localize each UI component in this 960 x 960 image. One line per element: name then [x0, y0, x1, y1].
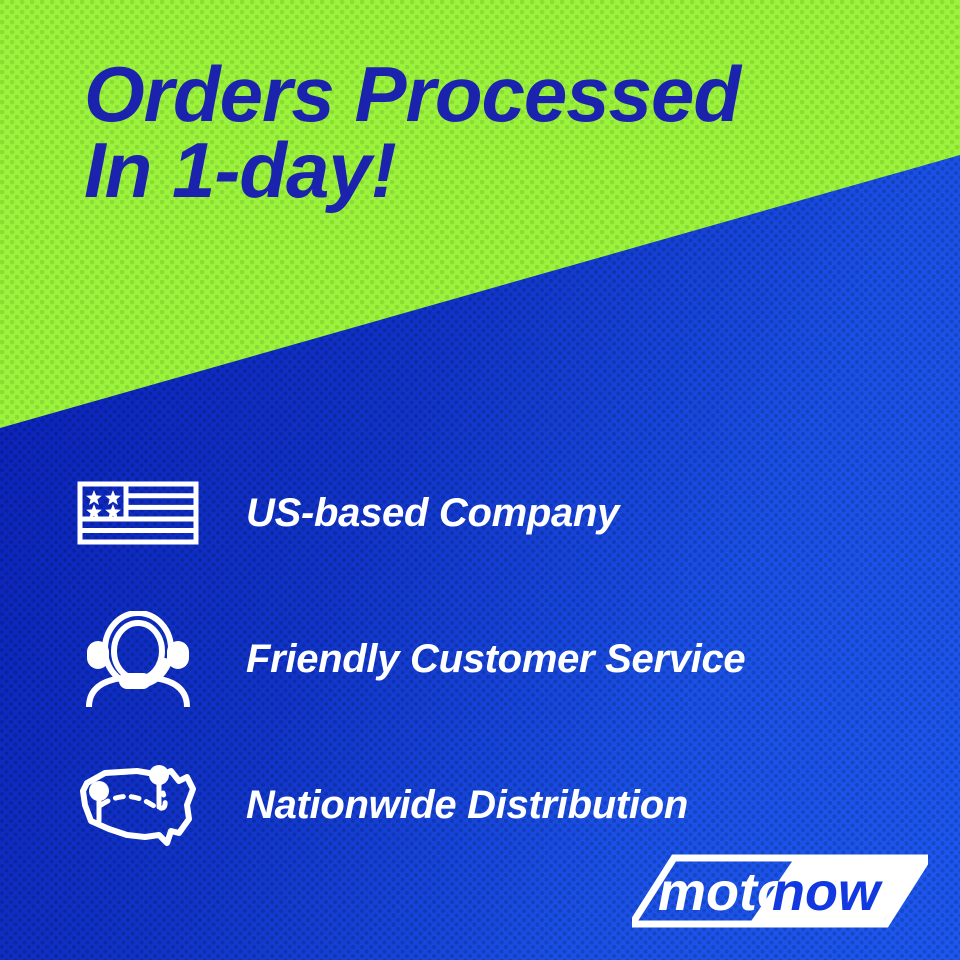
logo-text-now: now: [772, 862, 883, 922]
feature-label: Nationwide Distribution: [246, 783, 688, 828]
headline: Orders Processed In 1-day!: [84, 56, 924, 209]
feature-list: US-based Company: [74, 440, 894, 878]
us-flag-icon: [74, 481, 202, 545]
promo-poster: Orders Processed In 1-day!: [0, 0, 960, 960]
motonow-logo[interactable]: moto now: [632, 848, 928, 934]
us-map-pins-icon: [74, 759, 202, 851]
feature-item-us-based: US-based Company: [74, 440, 894, 586]
feature-label: Friendly Customer Service: [246, 637, 745, 682]
logo-text-moto: moto: [658, 862, 790, 922]
feature-label: US-based Company: [246, 491, 619, 536]
feature-item-customer-service: Friendly Customer Service: [74, 586, 894, 732]
headset-support-icon: [74, 611, 202, 707]
